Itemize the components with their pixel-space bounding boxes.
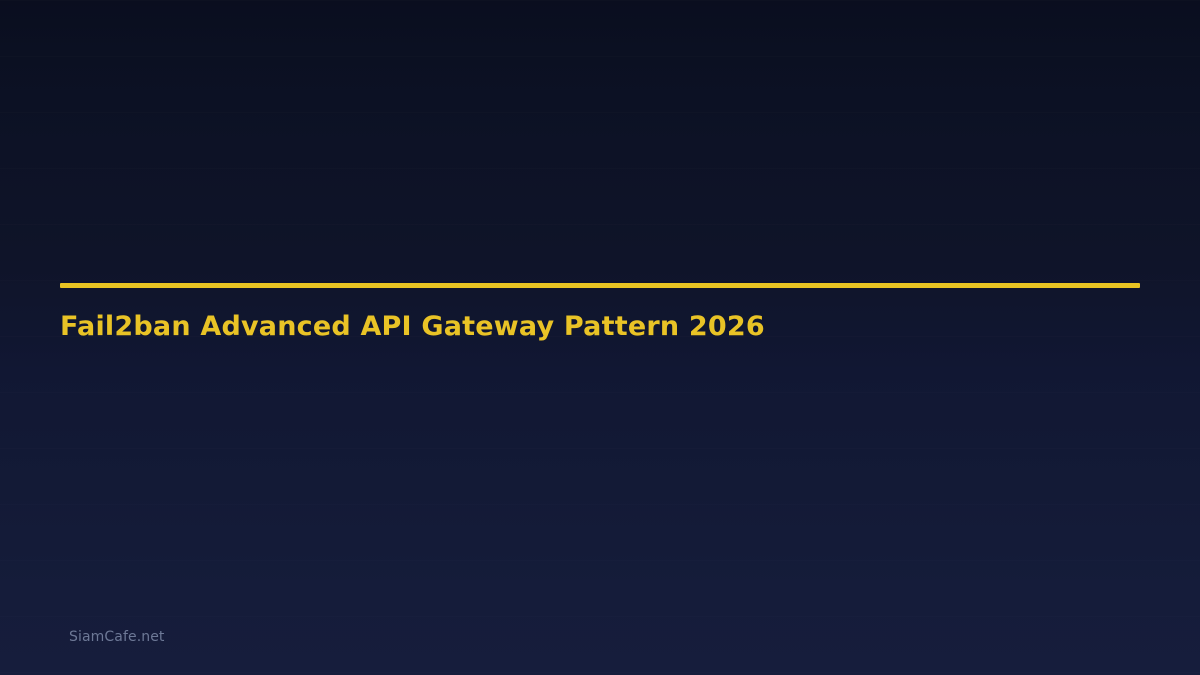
- page-title: Fail2ban Advanced API Gateway Pattern 20…: [60, 288, 1140, 342]
- watermark-label: SiamCafe.net: [69, 629, 165, 645]
- title-slide: Fail2ban Advanced API Gateway Pattern 20…: [0, 0, 1200, 675]
- title-block: Fail2ban Advanced API Gateway Pattern 20…: [60, 283, 1140, 342]
